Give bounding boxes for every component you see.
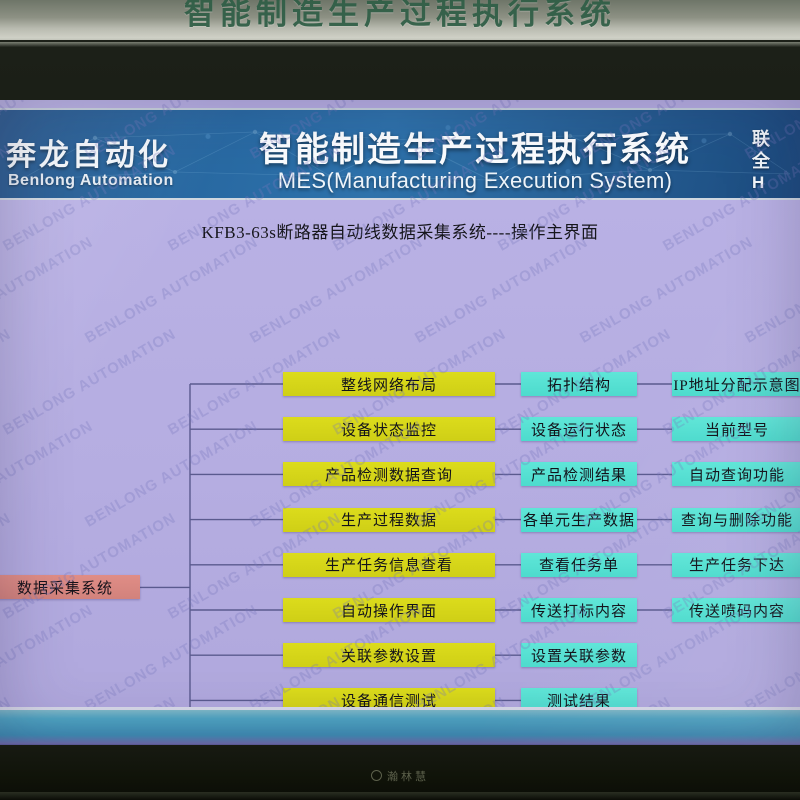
tree-node-level3-5[interactable]: 生产任务下达 — [672, 553, 800, 577]
app-header-banner: 奔龙自动化 Benlong Automation 智能制造生产过程执行系统 ME… — [0, 108, 800, 200]
tree-node-level3-4[interactable]: 查询与删除功能 — [672, 508, 800, 532]
tree-node-level1-2[interactable]: 设备状态监控 — [283, 417, 495, 441]
system-title-en: MES(Manufacturing Execution System) — [230, 168, 720, 194]
wall-sign-text: 智能制造生产过程执行系统 — [0, 0, 800, 28]
tree-node-level1-3[interactable]: 产品检测数据查询 — [283, 462, 495, 486]
tree-node-level2-2[interactable]: 设备运行状态 — [521, 417, 637, 441]
tree-node-level1-1[interactable]: 整线网络布局 — [283, 372, 495, 396]
monitor-brand-mark-icon — [371, 770, 382, 781]
tree-node-level2-7[interactable]: 设置关联参数 — [521, 643, 637, 667]
tree-node-level2-5[interactable]: 查看任务单 — [521, 553, 637, 577]
header-right-line-3: H — [752, 172, 798, 194]
header-right-cutoff-text: 联 全 H — [752, 128, 798, 194]
header-right-line-1: 联 — [752, 128, 798, 150]
tree-node-level1-5[interactable]: 生产任务信息查看 — [283, 553, 495, 577]
monitor-foot — [0, 792, 800, 800]
monitor-screen: 奔龙自动化 Benlong Automation 智能制造生产过程执行系统 ME… — [0, 100, 800, 746]
tree-node-level3-2[interactable]: 当前型号 — [672, 417, 800, 441]
screen-bottom-strip — [0, 707, 800, 746]
monitor-brand-text: 瀚林慧 — [387, 771, 429, 783]
tree-node-level3-6[interactable]: 传送喷码内容 — [672, 598, 800, 622]
header-right-line-2: 全 — [752, 150, 798, 172]
bezel-top-highlight — [0, 42, 800, 47]
monitor-brand: 瀚林慧 — [0, 768, 800, 784]
company-logo-en: Benlong Automation — [8, 172, 174, 190]
tree-node-level2-1[interactable]: 拓扑结构 — [521, 372, 637, 396]
tree-node-level3-3[interactable]: 自动查询功能 — [672, 462, 800, 486]
system-title-cn: 智能制造生产过程执行系统 — [230, 122, 720, 171]
tree-node-level2-4[interactable]: 各单元生产数据 — [521, 508, 637, 532]
tree-node-level1-7[interactable]: 关联参数设置 — [283, 643, 495, 667]
tree-node-level1-6[interactable]: 自动操作界面 — [283, 598, 495, 622]
company-logo-cn: 奔龙自动化 — [6, 130, 171, 174]
tree-node-level2-3[interactable]: 产品检测结果 — [521, 462, 637, 486]
tree-node-level2-6[interactable]: 传送打标内容 — [521, 598, 637, 622]
tree-node-level3-1[interactable]: IP地址分配示意图 — [672, 372, 800, 396]
tree-node-level1-4[interactable]: 生产过程数据 — [283, 508, 495, 532]
screenshot-root: 智能制造生产过程执行系统 — [0, 0, 800, 800]
tree-diagram: 数据采集系统整线网络布局拓扑结构IP地址分配示意图设备状态监控设备运行状态当前型… — [0, 200, 800, 707]
tree-connector-lines — [0, 200, 800, 707]
tree-node-root[interactable]: 数据采集系统 — [0, 575, 140, 599]
